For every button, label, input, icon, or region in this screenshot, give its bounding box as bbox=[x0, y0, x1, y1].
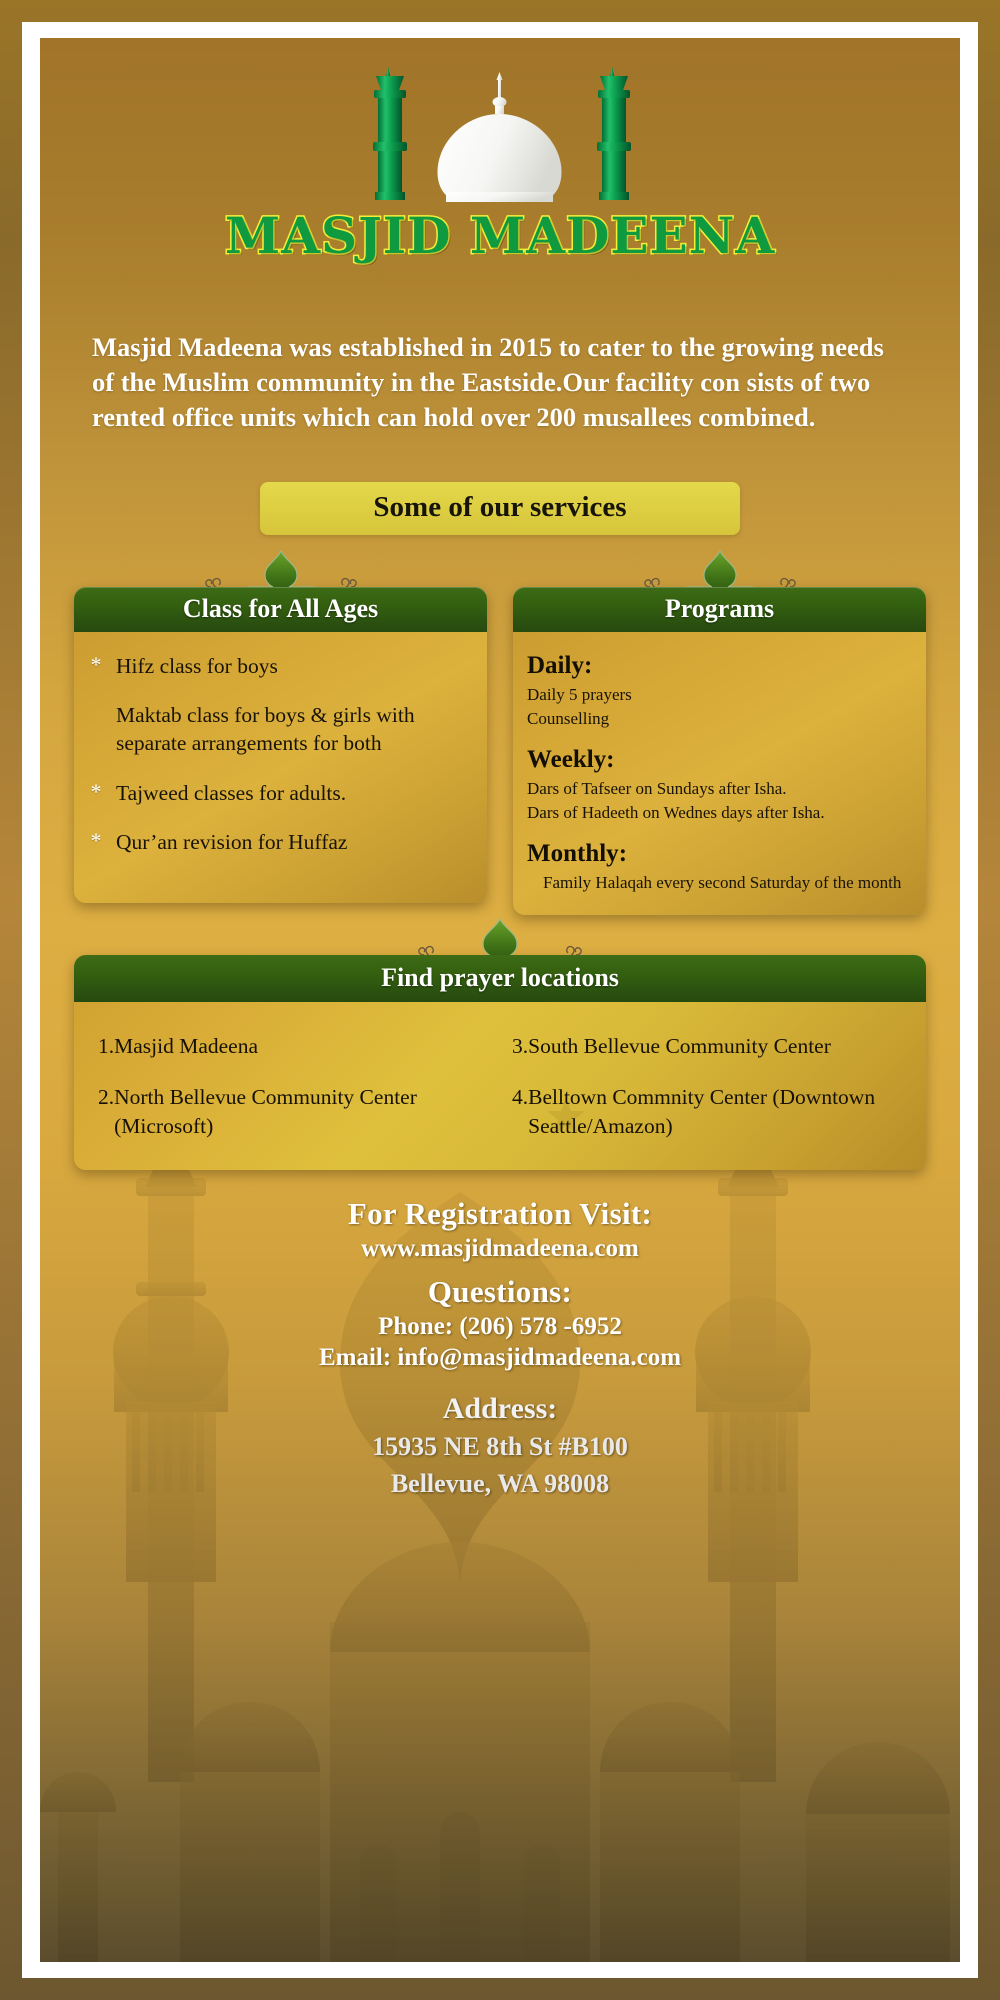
logo-block: MASJID MADEENA bbox=[40, 38, 960, 288]
location-name: Belltown Commnity Center (Downtown Seatt… bbox=[528, 1083, 900, 1140]
list-item: 2. North Bellevue Community Center (Micr… bbox=[98, 1083, 486, 1140]
card-title-programs: Programs bbox=[513, 587, 926, 632]
location-number: 3. bbox=[512, 1032, 528, 1061]
registration-label: For Registration Visit: bbox=[40, 1196, 960, 1232]
class-list: * Hifz class for boys * Maktab class for… bbox=[88, 652, 469, 857]
card-class-for-all-ages: Class for All Ages * Hifz class for boys… bbox=[74, 587, 487, 903]
list-item: * Maktab class for boys & girls with sep… bbox=[88, 701, 469, 758]
program-line: Counselling bbox=[527, 707, 908, 731]
locations-column-right: 3. South Bellevue Community Center 4. Be… bbox=[512, 1032, 900, 1140]
card-programs: Programs Daily: Daily 5 prayers Counsell… bbox=[513, 587, 926, 916]
address-line-1: 15935 NE 8th St #B100 bbox=[40, 1430, 960, 1463]
asterisk-icon: * bbox=[88, 779, 104, 804]
program-block-monthly: Monthly: Family Halaqah every second Sat… bbox=[527, 840, 908, 895]
list-item: 1. Masjid Madeena bbox=[98, 1032, 486, 1061]
list-item: * Hifz class for boys bbox=[88, 652, 469, 680]
list-item: * Qur’an revision for Huffaz bbox=[88, 828, 469, 856]
list-item-text: Tajweed classes for adults. bbox=[116, 779, 346, 807]
list-item: 3. South Bellevue Community Center bbox=[512, 1032, 900, 1061]
asterisk-icon: * bbox=[88, 828, 104, 853]
website-link[interactable]: www.masjidmadeena.com bbox=[40, 1235, 960, 1263]
program-block-daily: Daily: Daily 5 prayers Counselling bbox=[527, 652, 908, 731]
program-heading: Monthly: bbox=[527, 840, 908, 868]
flyer-poster: MASJID MADEENA Masjid Madeena was establ… bbox=[0, 0, 1000, 2000]
location-name: Masjid Madeena bbox=[114, 1032, 258, 1061]
card-body-class-for-all-ages: * Hifz class for boys * Maktab class for… bbox=[74, 632, 487, 877]
location-number: 4. bbox=[512, 1083, 528, 1140]
intro-paragraph: Masjid Madeena was established in 2015 t… bbox=[92, 330, 910, 436]
location-number: 1. bbox=[98, 1032, 114, 1061]
program-line: Dars of Hadeeth on Wednes days after Ish… bbox=[527, 801, 908, 825]
list-item: 4. Belltown Commnity Center (Downtown Se… bbox=[512, 1083, 900, 1140]
questions-label: Questions: bbox=[40, 1274, 960, 1310]
flyer-canvas: MASJID MADEENA Masjid Madeena was establ… bbox=[40, 38, 960, 1962]
email-address[interactable]: Email: info@masjidmadeena.com bbox=[40, 1344, 960, 1372]
location-number: 2. bbox=[98, 1083, 114, 1140]
list-item-text: Hifz class for boys bbox=[116, 652, 278, 680]
address-label: Address: bbox=[40, 1392, 960, 1426]
program-line: Family Halaqah every second Saturday of … bbox=[527, 871, 908, 895]
card-body-programs: Daily: Daily 5 prayers Counselling Weekl… bbox=[513, 632, 926, 916]
location-name: South Bellevue Community Center bbox=[528, 1032, 831, 1061]
program-line: Daily 5 prayers bbox=[527, 683, 908, 707]
list-item-text: Qur’an revision for Huffaz bbox=[116, 828, 347, 856]
mosque-logo-icon bbox=[40, 52, 960, 217]
card-title-class-for-all-ages: Class for All Ages bbox=[74, 587, 487, 632]
services-banner: Some of our services bbox=[260, 482, 740, 535]
logo-title: MASJID MADEENA bbox=[40, 211, 960, 261]
services-cards: Class for All Ages * Hifz class for boys… bbox=[74, 587, 926, 916]
program-heading: Weekly: bbox=[527, 746, 908, 774]
program-block-weekly: Weekly: Dars of Tafseer on Sundays after… bbox=[527, 746, 908, 825]
services-banner-row: Some of our services bbox=[40, 482, 960, 535]
prayer-locations-body: 1. Masjid Madeena 2. North Bellevue Comm… bbox=[74, 1002, 926, 1170]
phone-number[interactable]: Phone: (206) 578 -6952 bbox=[40, 1313, 960, 1341]
prayer-locations-panel: Find prayer locations 1. Masjid Madeena … bbox=[74, 955, 926, 1170]
asterisk-icon: * bbox=[88, 652, 104, 677]
list-item: * Tajweed classes for adults. bbox=[88, 779, 469, 807]
program-line: Dars of Tafseer on Sundays after Isha. bbox=[527, 777, 908, 801]
address-line-2: Bellevue, WA 98008 bbox=[40, 1467, 960, 1500]
location-name: North Bellevue Community Center (Microso… bbox=[114, 1083, 486, 1140]
program-heading: Daily: bbox=[527, 652, 908, 680]
locations-column-left: 1. Masjid Madeena 2. North Bellevue Comm… bbox=[98, 1032, 486, 1140]
list-item-text: Maktab class for boys & girls with separ… bbox=[116, 701, 469, 758]
prayer-locations-title: Find prayer locations bbox=[74, 955, 926, 1002]
footer-contact: For Registration Visit: www.masjidmadeen… bbox=[40, 1196, 960, 1501]
